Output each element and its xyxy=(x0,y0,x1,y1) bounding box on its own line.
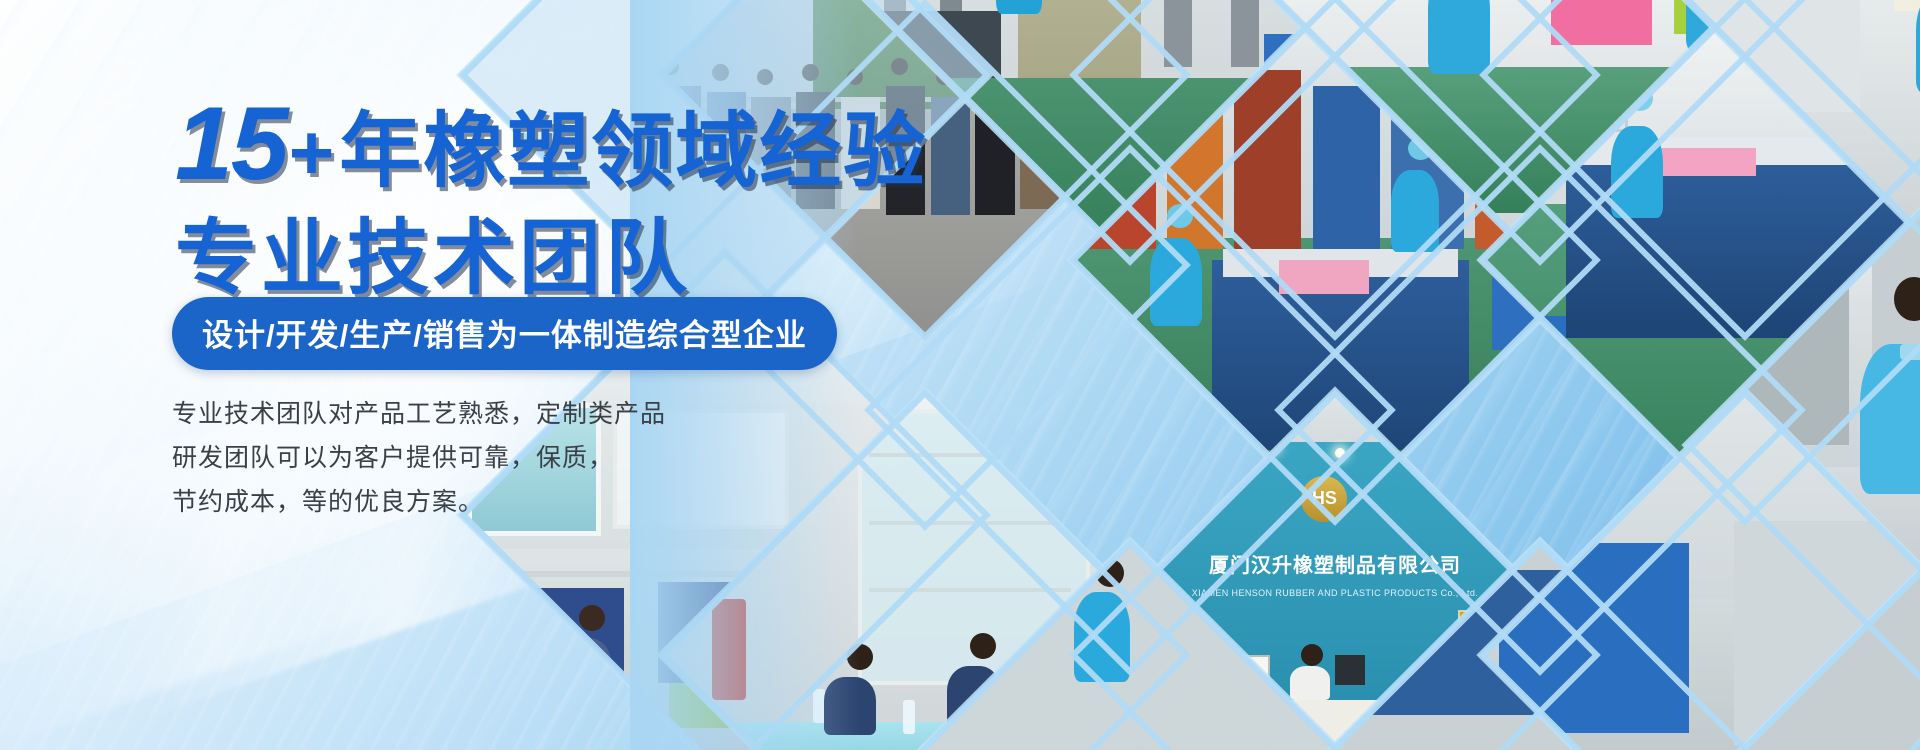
description-line-3: 节约成本，等的优良方案。 xyxy=(172,480,666,524)
hero-banner: HS 厦门汉升橡塑制品有限公司 XIAMEN HENSON RUBBER AND… xyxy=(0,0,1920,750)
hero-text-block: 15 + 年橡塑领域经验 专业技术团队 设计/开发/生产/销售为一体制造综合型企… xyxy=(0,0,760,750)
headline-plus-sign: + xyxy=(289,113,336,191)
description-line-2: 研发团队可以为客户提供可靠，保质， xyxy=(172,436,666,480)
tagline-pill: 设计/开发/生产/销售为一体制造综合型企业 xyxy=(172,297,837,370)
reception-company-name-cn: 厦门汉升橡塑制品有限公司 xyxy=(1156,549,1514,578)
reception-company-name-en: XIAMEN HENSON RUBBER AND PLASTIC PRODUCT… xyxy=(1156,588,1514,598)
description-line-1: 专业技术团队对产品工艺熟悉，定制类产品 xyxy=(172,392,666,436)
headline-line-1-text: 年橡塑领域经验 xyxy=(339,111,927,193)
headline-line-2: 专业技术团队 xyxy=(175,218,915,300)
headline-line-1: 15 + 年橡塑领域经验 xyxy=(175,92,915,196)
description-paragraph: 专业技术团队对产品工艺熟悉，定制类产品 研发团队可以为客户提供可靠，保质， 节约… xyxy=(172,392,666,524)
headline-years-number: 15 xyxy=(175,92,287,196)
reception-logo-text: HS xyxy=(1301,476,1347,522)
headline: 15 + 年橡塑领域经验 专业技术团队 xyxy=(175,92,915,300)
